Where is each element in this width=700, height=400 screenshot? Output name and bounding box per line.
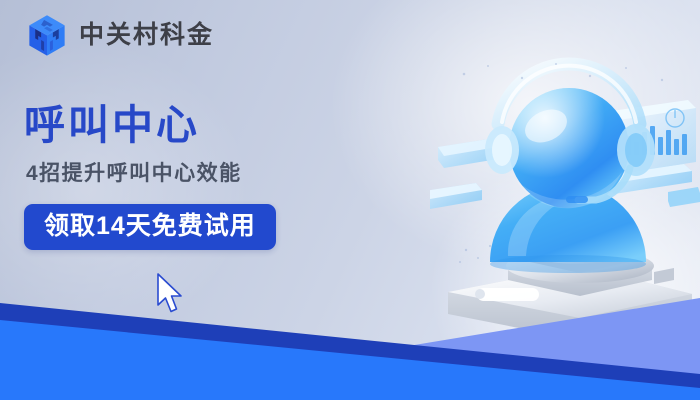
free-trial-cta-button[interactable]: 领取14天免费试用 xyxy=(24,204,276,250)
logo[interactable]: 中关村科金 xyxy=(26,14,214,56)
zhongguancun-cube-logo-icon xyxy=(26,14,68,56)
logo-text: 中关村科金 xyxy=(79,23,214,48)
hero-illustration xyxy=(430,40,700,340)
hero-copy: 呼叫中心 4招提升呼叫中心效能 领取14天免费试用 xyxy=(24,104,276,250)
hero-subtitle: 4招提升呼叫中心效能 xyxy=(26,163,276,184)
mouse-pointer-icon xyxy=(155,272,189,318)
promo-banner: 中关村科金 呼叫中心 4招提升呼叫中心效能 领取14天免费试用 xyxy=(0,0,700,400)
page-title: 呼叫中心 xyxy=(24,104,276,147)
